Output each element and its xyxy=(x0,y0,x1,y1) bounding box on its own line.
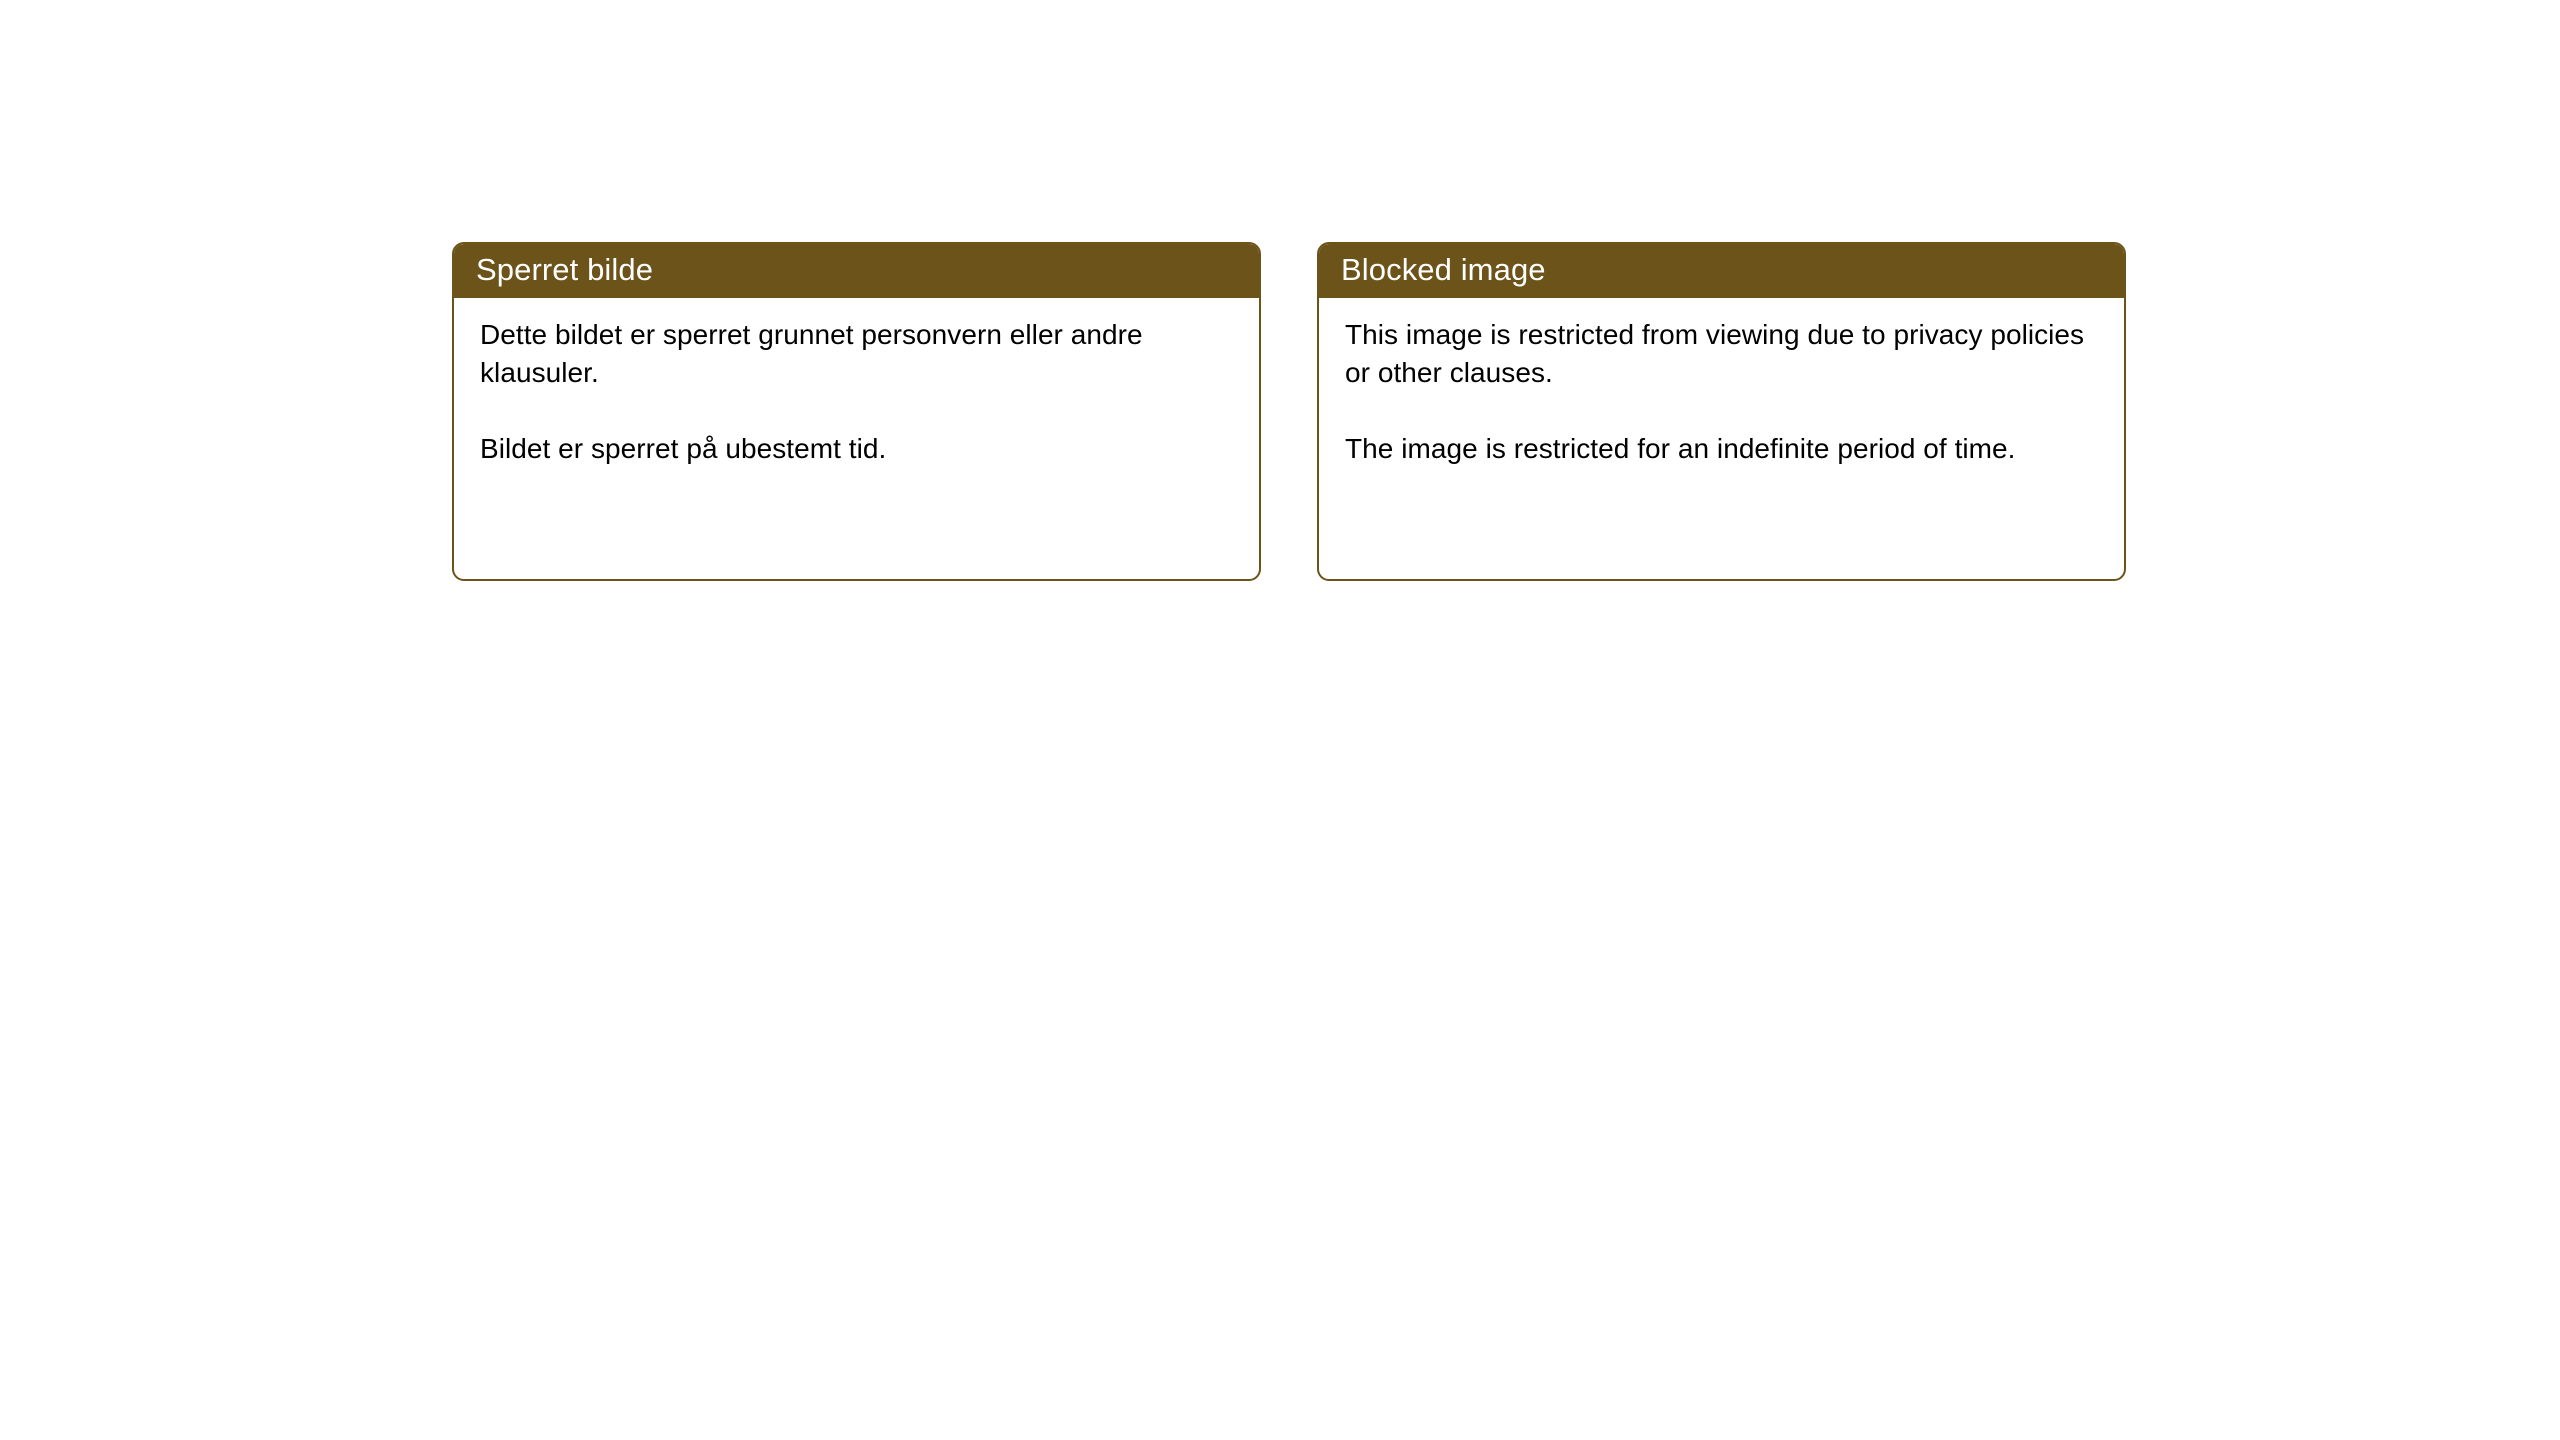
paragraph-spacer xyxy=(1345,392,2098,430)
paragraph-spacer xyxy=(480,392,1233,430)
blocked-image-card-norwegian: Sperret bilde Dette bildet er sperret gr… xyxy=(452,242,1261,581)
card-header-english: Blocked image xyxy=(1317,242,2126,298)
card-header-norwegian: Sperret bilde xyxy=(452,242,1261,298)
card-paragraph-primary-english: This image is restricted from viewing du… xyxy=(1345,316,2098,392)
card-title-norwegian: Sperret bilde xyxy=(476,252,653,288)
card-title-english: Blocked image xyxy=(1341,252,1546,288)
card-paragraph-primary-norwegian: Dette bildet er sperret grunnet personve… xyxy=(480,316,1233,392)
card-paragraph-secondary-norwegian: Bildet er sperret på ubestemt tid. xyxy=(480,430,1233,468)
card-body-english: This image is restricted from viewing du… xyxy=(1319,298,2124,468)
page-canvas: Sperret bilde Dette bildet er sperret gr… xyxy=(0,0,2560,1440)
card-paragraph-secondary-english: The image is restricted for an indefinit… xyxy=(1345,430,2098,468)
card-body-norwegian: Dette bildet er sperret grunnet personve… xyxy=(454,298,1259,468)
blocked-image-card-english: Blocked image This image is restricted f… xyxy=(1317,242,2126,581)
